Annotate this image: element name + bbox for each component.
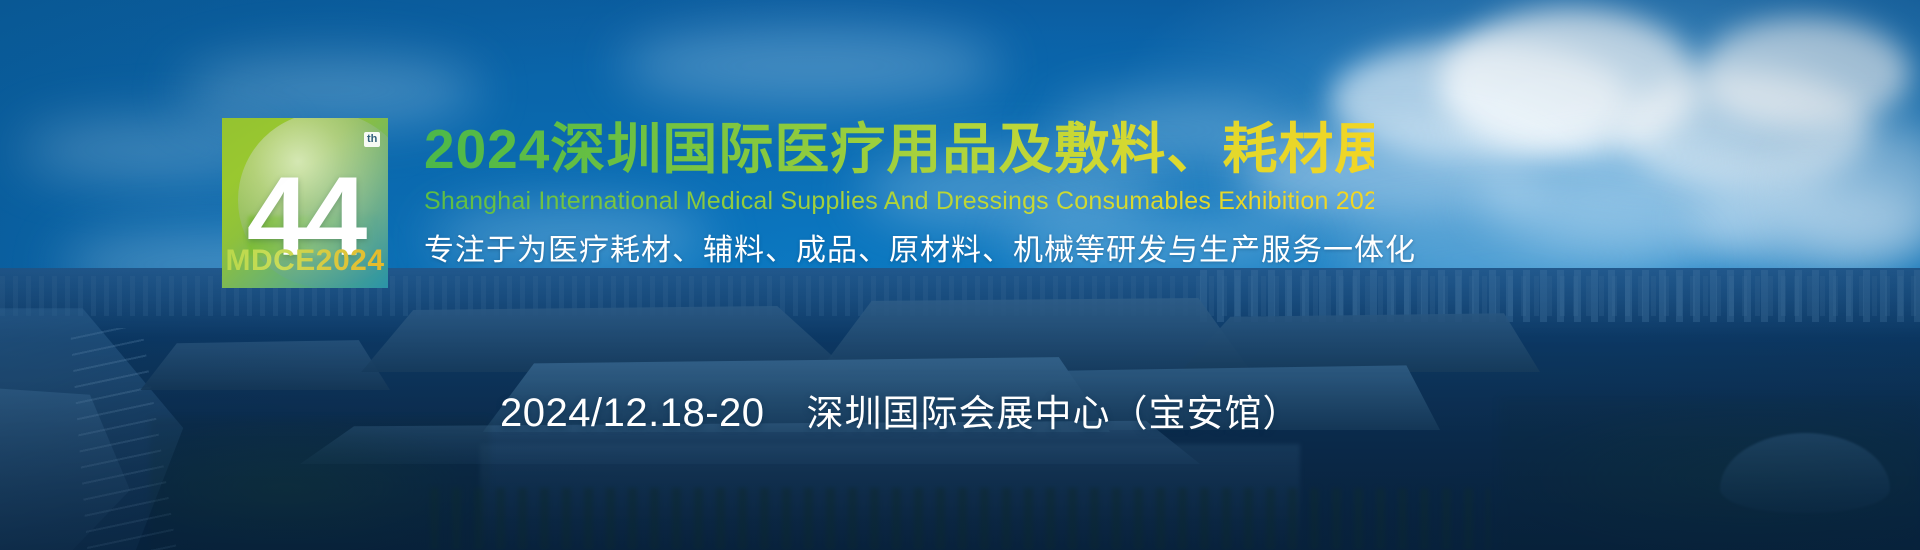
logo-ordinal-badge: th bbox=[364, 132, 380, 147]
exhibition-banner: 44 th MDCE2024 2024深圳国际医疗用品及敷料、耗材展览会 Sha… bbox=[0, 0, 1920, 550]
event-tagline: 专注于为医疗耗材、辅料、成品、原材料、机械等研发与生产服务一体化 bbox=[424, 232, 1374, 270]
cloud bbox=[620, 26, 1000, 106]
headline-block: 2024深圳国际医疗用品及敷料、耗材展览会 Shanghai Internati… bbox=[424, 118, 1374, 270]
event-date-venue: 2024/12.18-20 深圳国际会展中心（宝安馆） bbox=[500, 390, 1301, 437]
logo-wordmark: MDCE2024 bbox=[222, 244, 388, 278]
cloud bbox=[180, 55, 480, 125]
event-venue: 深圳国际会展中心（宝安馆） bbox=[807, 391, 1301, 437]
event-headline-english: Shanghai International Medical Supplies … bbox=[424, 186, 1374, 216]
cloud bbox=[1700, 18, 1910, 128]
event-date: 2024/12.18-20 bbox=[500, 390, 765, 436]
event-headline: 2024深圳国际医疗用品及敷料、耗材展览会 bbox=[424, 118, 1374, 180]
mdce-logo: 44 th MDCE2024 bbox=[222, 118, 388, 288]
